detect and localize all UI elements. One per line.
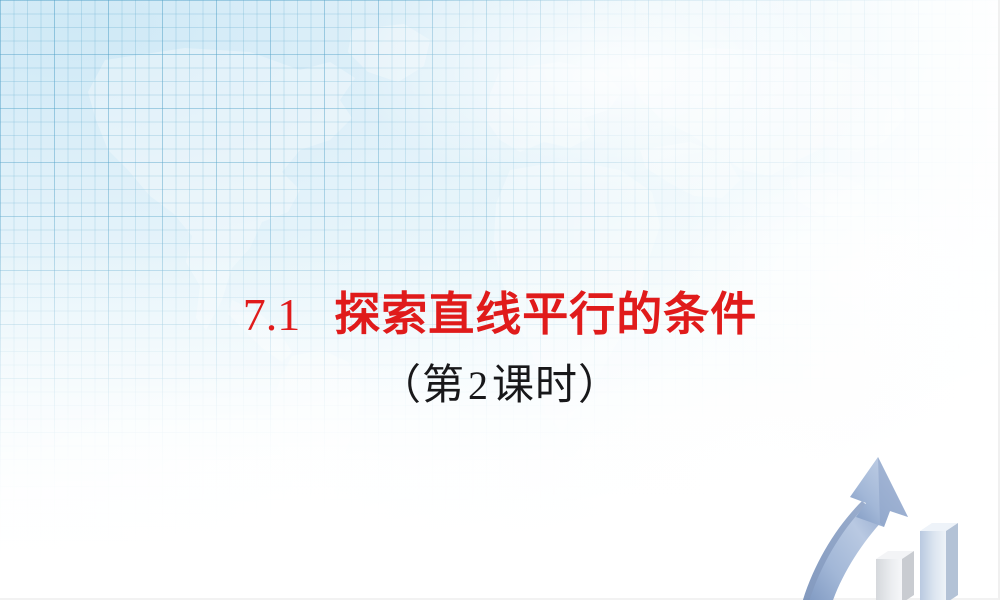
subtitle-open: （第 bbox=[379, 361, 465, 408]
title-text: 探索直线平行的条件 bbox=[334, 288, 757, 340]
title-section-number: 7.1 bbox=[243, 289, 301, 340]
subtitle-lesson-number: 2 bbox=[465, 363, 492, 408]
title-block: 7.1探索直线平行的条件 （第2课时） bbox=[0, 288, 1000, 410]
growth-arrow-bar-chart-graphic bbox=[780, 435, 1000, 600]
subtitle: （第2课时） bbox=[0, 361, 1000, 410]
lesson-title-slide: 7.1探索直线平行的条件 （第2课时） bbox=[0, 0, 1000, 600]
page-title: 7.1探索直线平行的条件 bbox=[0, 288, 1000, 341]
subtitle-close: 课时） bbox=[492, 361, 621, 408]
